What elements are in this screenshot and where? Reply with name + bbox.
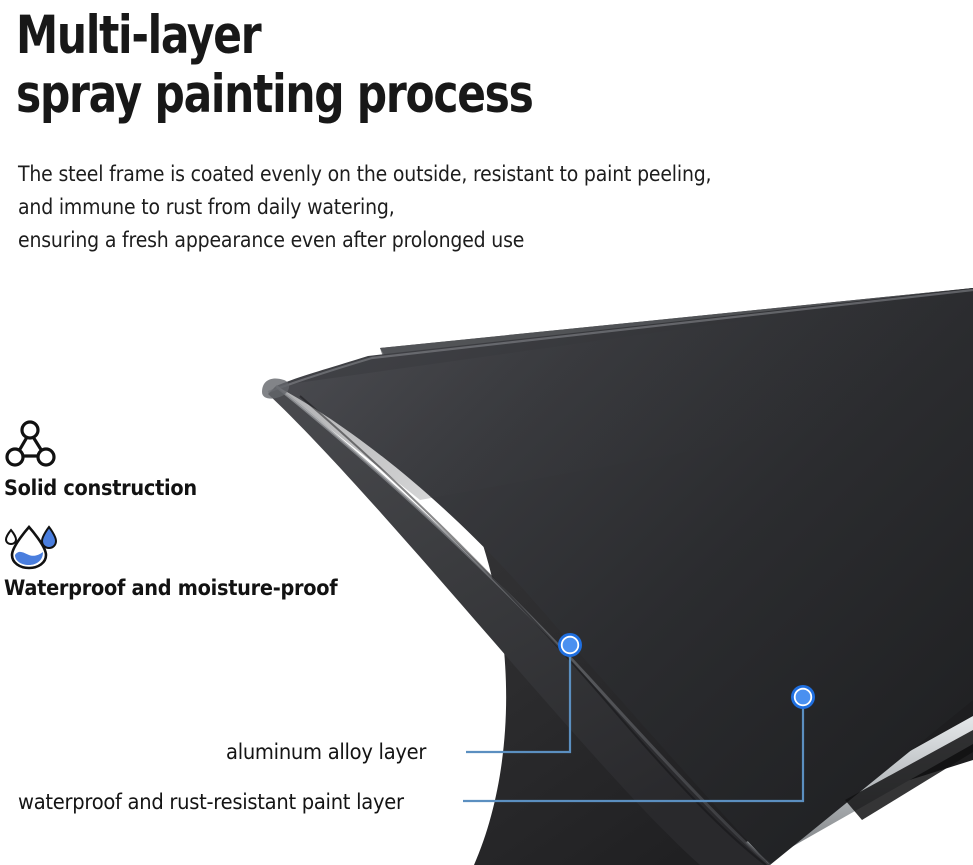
callout-label-aluminum-alloy-layer: aluminum alloy layer — [226, 740, 426, 764]
page-title-line-1: Multi-layer — [16, 6, 533, 65]
page-title-line-2: spray painting process — [16, 65, 533, 124]
feature-solid-construction: Solid construction — [4, 418, 214, 500]
callout-marker-aluminum-alloy-layer[interactable] — [558, 633, 582, 657]
heading-block: Multi-layer spray painting process — [16, 2, 662, 124]
feature-waterproof-moisture-proof: Waterproof and moisture-proof — [4, 522, 366, 600]
callout-marker-waterproof-paint-layer[interactable] — [791, 685, 815, 709]
callout-label-waterproof-paint-layer: waterproof and rust-resistant paint laye… — [18, 790, 404, 814]
subtitle-line-2: and immune to rust from daily watering, — [18, 191, 711, 224]
water-drop-icon — [4, 522, 64, 570]
subtitle-line-3: ensuring a fresh appearance even after p… — [18, 224, 711, 257]
triangle-nodes-icon — [4, 418, 58, 470]
subtitle-line-1: The steel frame is coated evenly on the … — [18, 158, 711, 191]
feature-label-solid-construction: Solid construction — [4, 476, 197, 500]
feature-label-waterproof-moisture-proof: Waterproof and moisture-proof — [4, 576, 337, 600]
subtitle-block: The steel frame is coated evenly on the … — [18, 158, 788, 257]
